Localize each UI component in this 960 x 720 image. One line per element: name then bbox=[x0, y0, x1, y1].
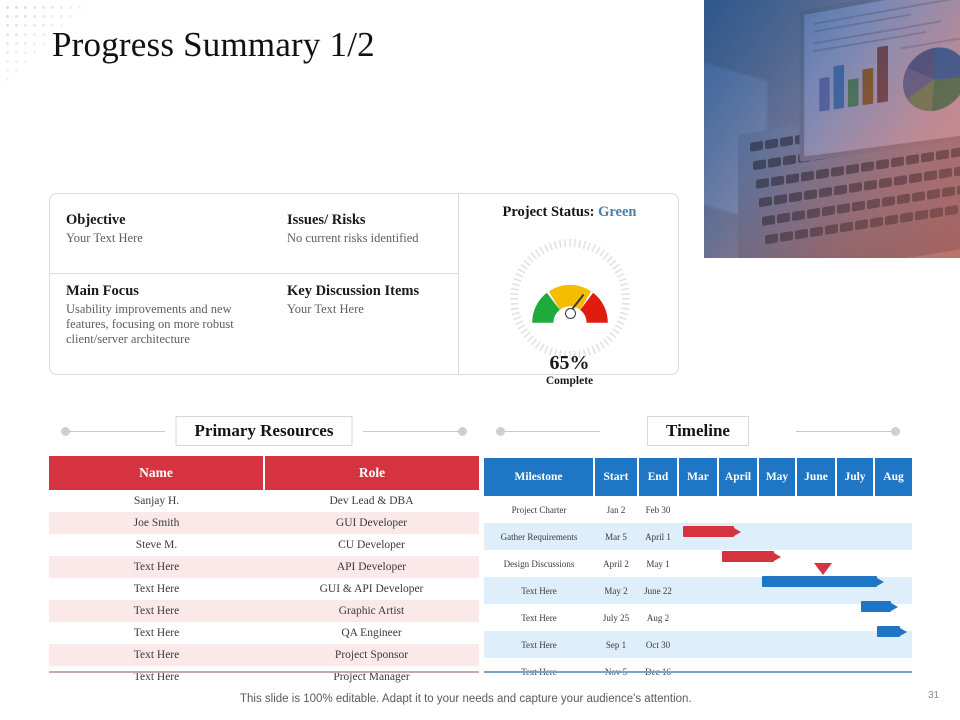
hero-photo-laptop-analytics bbox=[704, 0, 960, 258]
cell-end: June 22 bbox=[638, 577, 678, 604]
cell-month bbox=[718, 523, 758, 550]
cell-role: Project Manager bbox=[264, 666, 479, 688]
connector-line-left bbox=[502, 431, 600, 432]
table-row: Text HereSep 1Oct 30 bbox=[484, 631, 912, 658]
issues-risks-heading: Issues/ Risks bbox=[287, 212, 467, 229]
cell-month bbox=[874, 496, 912, 523]
cell-month bbox=[678, 604, 718, 631]
cell-start: Mar 5 bbox=[594, 523, 638, 550]
cell-month bbox=[758, 550, 796, 577]
cell-month bbox=[678, 631, 718, 658]
timeline-title-box: Timeline bbox=[647, 416, 749, 446]
table-row: Gather RequirementsMar 5April 1 bbox=[484, 523, 912, 550]
objective-cell: Objective Your Text Here bbox=[66, 212, 266, 246]
cell-month bbox=[796, 604, 836, 631]
primary-resources-table: Name Role Sanjay H.Dev Lead & DBAJoe Smi… bbox=[49, 456, 479, 688]
cell-month bbox=[678, 550, 718, 577]
gauge-complete-label: Complete bbox=[509, 375, 631, 387]
cell-month bbox=[758, 496, 796, 523]
connector-dot-left bbox=[61, 427, 70, 436]
cell-role: Dev Lead & DBA bbox=[264, 490, 479, 512]
timeline-title: Timeline bbox=[666, 421, 730, 441]
timeline-table: MilestoneStartEndMarAprilMayJuneJulyAug … bbox=[484, 458, 912, 685]
cell-month bbox=[874, 550, 912, 577]
timeline-section-header: Timeline bbox=[484, 416, 912, 446]
gauge-hub bbox=[565, 308, 576, 319]
cell-role: API Developer bbox=[264, 556, 479, 578]
cell-milestone: Design Discussions bbox=[484, 550, 594, 577]
cell-month bbox=[836, 523, 874, 550]
cell-name: Steve M. bbox=[49, 534, 264, 556]
connector-line-right bbox=[363, 431, 461, 432]
cell-name: Text Here bbox=[49, 600, 264, 622]
cell-name: Joe Smith bbox=[49, 512, 264, 534]
table-row: Design DiscussionsApril 2May 1 bbox=[484, 550, 912, 577]
column-header-june: June bbox=[796, 458, 836, 496]
table-row: Text HereAPI Developer bbox=[49, 556, 479, 578]
cell-month bbox=[836, 496, 874, 523]
timeline-table-body: Project CharterJan 2Feb 30Gather Require… bbox=[484, 496, 912, 685]
cell-month bbox=[758, 577, 796, 604]
cell-end: Feb 30 bbox=[638, 496, 678, 523]
connector-line-left bbox=[67, 431, 165, 432]
cell-start: July 25 bbox=[594, 604, 638, 631]
cell-month bbox=[874, 523, 912, 550]
cell-milestone: Text Here bbox=[484, 604, 594, 631]
issues-risks-body: No current risks identified bbox=[287, 231, 467, 246]
table-row: Steve M.CU Developer bbox=[49, 534, 479, 556]
progress-gauge: 65% Complete bbox=[509, 238, 631, 360]
objective-heading: Objective bbox=[66, 212, 266, 229]
cell-month bbox=[718, 550, 758, 577]
primary-resources-section-header: Primary Resources bbox=[49, 416, 479, 446]
column-header-aug: Aug bbox=[874, 458, 912, 496]
cell-month bbox=[836, 577, 874, 604]
main-focus-body: Usability improvements and new features,… bbox=[66, 302, 276, 347]
table-row: Text HereProject Manager bbox=[49, 666, 479, 688]
cell-month bbox=[874, 577, 912, 604]
gauge-arc-icon bbox=[525, 258, 615, 348]
cell-month bbox=[758, 631, 796, 658]
cell-name: Sanjay H. bbox=[49, 490, 264, 512]
column-header-end: End bbox=[638, 458, 678, 496]
page-title: Progress Summary 1/2 bbox=[52, 25, 375, 65]
cell-month bbox=[758, 523, 796, 550]
connector-dot-right bbox=[891, 427, 900, 436]
primary-resources-title-box: Primary Resources bbox=[176, 416, 353, 446]
primary-resources-table-body: Sanjay H.Dev Lead & DBAJoe SmithGUI Deve… bbox=[49, 490, 479, 688]
cell-end: May 1 bbox=[638, 550, 678, 577]
cell-month bbox=[796, 631, 836, 658]
cell-name: Text Here bbox=[49, 578, 264, 600]
cell-name: Text Here bbox=[49, 622, 264, 644]
cell-month bbox=[836, 550, 874, 577]
column-header-milestone: Milestone bbox=[484, 458, 594, 496]
cell-month bbox=[758, 604, 796, 631]
table-row: Text HereGUI & API Developer bbox=[49, 578, 479, 600]
timeline-gantt: MilestoneStartEndMarAprilMayJuneJulyAug … bbox=[484, 458, 912, 685]
key-discussion-items-cell: Key Discussion Items Your Text Here bbox=[287, 283, 477, 317]
table-row: Text HereQA Engineer bbox=[49, 622, 479, 644]
cell-start: April 2 bbox=[594, 550, 638, 577]
cell-month bbox=[836, 604, 874, 631]
table-row: Sanjay H.Dev Lead & DBA bbox=[49, 490, 479, 512]
table-row: Text HereMay 2June 22 bbox=[484, 577, 912, 604]
cell-name: Text Here bbox=[49, 556, 264, 578]
column-header-april: April bbox=[718, 458, 758, 496]
cell-month bbox=[718, 604, 758, 631]
cell-month bbox=[718, 631, 758, 658]
footer-note: This slide is 100% editable. Adapt it to… bbox=[240, 693, 692, 705]
cell-month bbox=[718, 496, 758, 523]
info-row-divider bbox=[50, 273, 459, 274]
objective-body: Your Text Here bbox=[66, 231, 266, 246]
table-header-row: Name Role bbox=[49, 456, 479, 490]
cell-start: Sep 1 bbox=[594, 631, 638, 658]
timeline-bottom-rule bbox=[484, 671, 912, 673]
cell-end: April 1 bbox=[638, 523, 678, 550]
cell-month bbox=[796, 496, 836, 523]
cell-role: QA Engineer bbox=[264, 622, 479, 644]
cell-month bbox=[678, 523, 718, 550]
cell-month bbox=[718, 577, 758, 604]
connector-dot-left bbox=[496, 427, 505, 436]
key-discussion-body: Your Text Here bbox=[287, 302, 477, 317]
column-header-mar: Mar bbox=[678, 458, 718, 496]
issues-risks-cell: Issues/ Risks No current risks identifie… bbox=[287, 212, 467, 246]
cell-end: Oct 30 bbox=[638, 631, 678, 658]
cell-milestone: Gather Requirements bbox=[484, 523, 594, 550]
timeline-header-row: MilestoneStartEndMarAprilMayJuneJulyAug bbox=[484, 458, 912, 496]
cell-month bbox=[796, 523, 836, 550]
cell-role: Graphic Artist bbox=[264, 600, 479, 622]
cell-role: GUI Developer bbox=[264, 512, 479, 534]
primary-resources-title: Primary Resources bbox=[195, 421, 334, 441]
photo-gradient-overlay-2 bbox=[704, 0, 960, 258]
project-status-title: Project Status: Green bbox=[459, 204, 680, 221]
cell-start: Jan 2 bbox=[594, 496, 638, 523]
cell-name: Text Here bbox=[49, 666, 264, 688]
gauge-percent-text: 65% bbox=[509, 352, 631, 375]
table-row: Text HereProject Sponsor bbox=[49, 644, 479, 666]
column-header-start: Start bbox=[594, 458, 638, 496]
main-focus-cell: Main Focus Usability improvements and ne… bbox=[66, 283, 276, 347]
cell-role: GUI & API Developer bbox=[264, 578, 479, 600]
cell-milestone: Project Charter bbox=[484, 496, 594, 523]
main-focus-heading: Main Focus bbox=[66, 283, 276, 300]
cell-role: Project Sponsor bbox=[264, 644, 479, 666]
cell-month bbox=[874, 631, 912, 658]
table-row: Joe SmithGUI Developer bbox=[49, 512, 479, 534]
cell-month bbox=[678, 496, 718, 523]
cell-start: May 2 bbox=[594, 577, 638, 604]
cell-month bbox=[874, 604, 912, 631]
summary-info-card: Objective Your Text Here Issues/ Risks N… bbox=[49, 193, 679, 375]
cell-month bbox=[836, 631, 874, 658]
project-status-value: Green bbox=[598, 204, 636, 220]
cell-milestone: Text Here bbox=[484, 631, 594, 658]
table-row: Text HereGraphic Artist bbox=[49, 600, 479, 622]
project-status-panel: Project Status: Green 65% Complete bbox=[459, 194, 680, 376]
cell-month bbox=[796, 577, 836, 604]
column-header-may: May bbox=[758, 458, 796, 496]
cell-month bbox=[796, 550, 836, 577]
project-status-label: Project Status: bbox=[503, 204, 595, 220]
page-number: 31 bbox=[928, 690, 939, 701]
column-header-name: Name bbox=[49, 456, 264, 490]
slide-canvas: Progress Summary 1/2 bbox=[0, 0, 960, 720]
column-header-role: Role bbox=[264, 456, 479, 490]
primary-resources-bottom-rule bbox=[49, 671, 479, 673]
column-header-july: July bbox=[836, 458, 874, 496]
table-row: Project CharterJan 2Feb 30 bbox=[484, 496, 912, 523]
key-discussion-heading: Key Discussion Items bbox=[287, 283, 477, 300]
connector-line-right bbox=[796, 431, 894, 432]
cell-milestone: Text Here bbox=[484, 577, 594, 604]
table-row: Text HereJuly 25Aug 2 bbox=[484, 604, 912, 631]
cell-end: Aug 2 bbox=[638, 604, 678, 631]
cell-role: CU Developer bbox=[264, 534, 479, 556]
cell-name: Text Here bbox=[49, 644, 264, 666]
cell-month bbox=[678, 577, 718, 604]
connector-dot-right bbox=[458, 427, 467, 436]
